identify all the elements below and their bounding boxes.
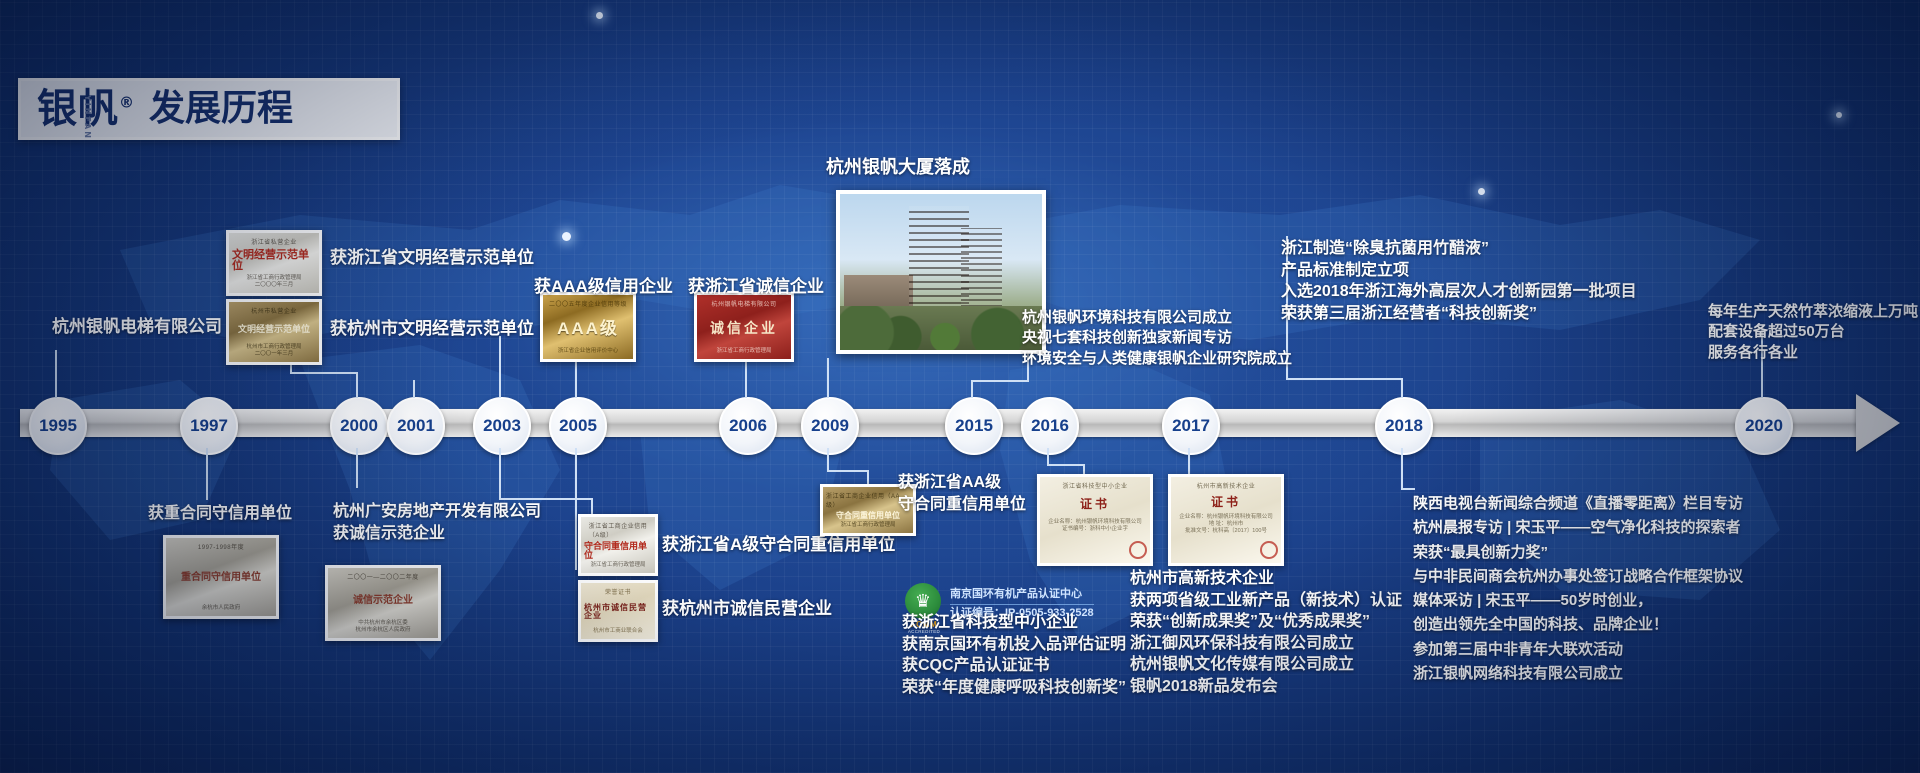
- red-seal-icon: [1260, 541, 1278, 559]
- certificate-zhejiang-integrity: 杭州银帆电梯有限公司 诚信企业 浙江省工商行政管理局: [694, 292, 794, 362]
- certificate-main-text: 重合同守信用单位: [181, 573, 261, 583]
- registered-mark-icon: ®: [119, 94, 135, 112]
- event-label-2005-top: 获AAA级信用企业: [534, 276, 673, 299]
- connector-line: [591, 498, 593, 514]
- certificate-main-text: 证书: [1080, 498, 1110, 510]
- year-label: 2001: [397, 416, 435, 436]
- timeline-year-2009[interactable]: 2009: [801, 397, 859, 455]
- connector-line: [356, 448, 358, 488]
- connector-line: [1401, 488, 1415, 490]
- timeline-year-2016[interactable]: 2016: [1021, 397, 1079, 455]
- timeline-year-2005[interactable]: 2005: [549, 397, 607, 455]
- certificate-honest-private-enterprise: 荣誉证书 杭州市诚信民营企业 杭州市工商业联合会: [578, 580, 658, 642]
- year-label: 1997: [190, 416, 228, 436]
- decor-dot: [562, 232, 571, 241]
- connector-line: [356, 372, 358, 398]
- page-subtitle: 发展历程: [149, 91, 293, 127]
- event-label-2009-bottom: 获浙江省AA级 守合同重信用单位: [898, 472, 1026, 515]
- timeline-year-2001[interactable]: 2001: [387, 397, 445, 455]
- certificate-contract-credit-1997: 1997-1998年度 重合同守信用单位 余杭市人民政府: [163, 535, 279, 619]
- connector-line: [1047, 464, 1083, 466]
- certificate-aaa-credit: 二〇〇五年度企业信用等级 AAA级 浙江省企业信用评价中心: [540, 292, 636, 362]
- certificate-top-text: 二〇〇五年度企业信用等级: [549, 299, 627, 308]
- year-label: 1995: [39, 416, 77, 436]
- certificate-hangzhou-civilized: 杭州市私营企业 文明经营示范单位 杭州市工商行政管理局 二〇〇一年三月: [226, 299, 322, 365]
- certificate-main-text: 证书: [1211, 496, 1241, 508]
- certificate-footer-text: 浙江省工商行政管理局 二〇〇〇年三月: [246, 275, 301, 289]
- certificate-footer-text: 企业名称：杭州银帆环境科技有限公司 地 址：杭州市 批准文号：杭科高〔2017〕…: [1179, 514, 1273, 535]
- certificate-main-text: 文明经营示范单位: [232, 250, 316, 272]
- certificate-main-text: 诚信示范企业: [353, 596, 413, 606]
- certificate-zhejiang-civilized: 浙江省私营企业 文明经营示范单位 浙江省工商行政管理局 二〇〇〇年三月: [226, 230, 322, 296]
- event-label-2000-top: 获浙江省文明经营示范单位: [330, 247, 534, 270]
- certificate-footer-text: 浙江省工商行政管理局: [590, 562, 645, 569]
- connector-line: [1286, 378, 1402, 380]
- connector-line: [867, 470, 869, 484]
- year-label: 2020: [1745, 416, 1783, 436]
- event-label-2015: 杭州银帆环境科技有限公司成立 央视七套科技创新独家新闻专访 环境安全与人类健康银…: [1022, 308, 1292, 369]
- connector-line: [499, 448, 501, 498]
- certificate-sme-tech: 浙江省科技型中小企业 证书 企业名称：杭州银帆环境科技有限公司 证书编号：浙科中…: [1037, 474, 1153, 566]
- connector-line: [413, 380, 415, 398]
- certificate-footer-text: 浙江省企业信用评价中心: [558, 348, 619, 355]
- timeline-year-1997[interactable]: 1997: [180, 397, 238, 455]
- certificate-main-text: 诚信企业: [710, 321, 778, 335]
- decor-dot: [1478, 188, 1485, 195]
- certificate-footer-text: 浙江省工商行政管理局: [716, 348, 771, 355]
- timeline-year-2015[interactable]: 2015: [945, 397, 1003, 455]
- certificate-top-text: 荣誉证书: [605, 587, 631, 596]
- certificate-main-text: 守合同重信用单位: [584, 542, 652, 560]
- year-label: 2003: [483, 416, 521, 436]
- timeline-year-1995[interactable]: 1995: [29, 397, 87, 455]
- timeline-year-2017[interactable]: 2017: [1162, 397, 1220, 455]
- certificate-main-text: 文明经营示范单位: [238, 325, 310, 334]
- building-photo: [836, 190, 1046, 354]
- certificate-footer-text: 中共杭州市余杭区委 杭州市余杭区人民政府: [355, 620, 410, 634]
- certificate-top-text: 浙江省科技型中小企业: [1062, 481, 1127, 490]
- event-label-2017: 杭州市高新技术企业 获两项省级工业新产品（新技术）认证 荣获“创新成果奖”及“优…: [1130, 568, 1402, 698]
- connector-line: [55, 350, 57, 398]
- certificate-footer-text: 浙江省工商行政管理局: [840, 522, 895, 529]
- certificate-footer-text: 杭州市工商行政管理局 二〇〇一年三月: [246, 344, 301, 358]
- certificate-a-level-contract: 浙江省工商企业信用 （A级） 守合同重信用单位 浙江省工商行政管理局: [578, 514, 658, 576]
- certificate-top-text: 二〇〇一—二〇〇二年度: [347, 572, 419, 581]
- event-label-2006: 获浙江省诚信企业: [688, 276, 824, 299]
- certificate-top-text: 杭州市高新技术企业: [1197, 481, 1256, 490]
- connector-line: [971, 380, 1027, 382]
- year-label: 2016: [1031, 416, 1069, 436]
- connector-line: [575, 448, 577, 570]
- connector-line: [827, 448, 829, 470]
- connector-line: [1401, 378, 1403, 398]
- year-label: 2005: [559, 416, 597, 436]
- year-label: 2017: [1172, 416, 1210, 436]
- certificate-top-text: 杭州银帆电梯有限公司: [711, 299, 776, 308]
- brand-name: 银帆: [37, 86, 119, 132]
- event-label-1997: 获重合同守信用单位: [148, 503, 292, 525]
- connector-line: [499, 498, 591, 500]
- connector-line: [827, 470, 867, 472]
- timeline-axis: [20, 409, 1866, 437]
- year-label: 2009: [811, 416, 849, 436]
- certificate-main-text: 杭州市诚信民营企业: [584, 604, 652, 620]
- timeline-infographic: 银帆® YINFAN 发展历程 1995 1997 2000 2001 2003…: [0, 0, 1920, 773]
- red-seal-icon: [1129, 541, 1147, 559]
- event-label-2016: 获浙江省科技型中小企业 获南京国环有机投入品评估证明 获CQC产品认证证书 荣获…: [902, 612, 1126, 698]
- event-label-2020: 每年生产天然竹萃浓缩液上万吨 配套设备超过50万台 服务各行各业: [1708, 302, 1918, 363]
- connector-line: [971, 380, 973, 398]
- decor-dot: [1836, 112, 1842, 118]
- timeline-year-2000[interactable]: 2000: [330, 397, 388, 455]
- brand-logo: 银帆® YINFAN: [37, 89, 135, 129]
- certificate-footer-text: 企业名称：杭州银帆环境科技有限公司 证书编号：浙科中小企业字: [1048, 519, 1142, 533]
- year-label: 2018: [1385, 416, 1423, 436]
- timeline-year-2003[interactable]: 2003: [473, 397, 531, 455]
- certificate-top-text: 杭州市私营企业: [251, 306, 297, 315]
- certificate-main-text: 守合同重信用单位: [836, 512, 900, 520]
- timeline-year-2018[interactable]: 2018: [1375, 397, 1433, 455]
- certificate-high-tech-enterprise: 杭州市高新技术企业 证书 企业名称：杭州银帆环境科技有限公司 地 址：杭州市 批…: [1168, 474, 1284, 566]
- certificate-top-text: 浙江省工商企业信用 （A级）: [589, 521, 648, 539]
- event-label-2003: 获浙江省A级守合同重信用单位: [662, 534, 895, 557]
- timeline-year-2020[interactable]: 2020: [1735, 397, 1793, 455]
- timeline-arrow-icon: [1856, 394, 1900, 452]
- event-label-2001-top: 获杭州市文明经营示范单位: [330, 318, 534, 341]
- certificate-main-text: AAA级: [557, 320, 619, 337]
- certificate-footer-text: 杭州市工商业联合会: [593, 628, 643, 635]
- year-label: 2000: [340, 416, 378, 436]
- connector-line: [499, 336, 501, 398]
- event-label-2018-bottom: 陕西电视台新闻综合频道《直播零距离》栏目专访 杭州晨报专访 | 宋玉平——空气净…: [1413, 492, 1743, 686]
- connector-line: [206, 448, 208, 500]
- page-title: 银帆® YINFAN 发展历程: [18, 78, 400, 140]
- connector-line: [290, 372, 358, 374]
- organic-center-name: 南京国环有机产品认证中心: [950, 586, 1094, 605]
- brand-pinyin: YINFAN: [83, 95, 91, 141]
- connector-line: [827, 358, 829, 398]
- certificate-top-text: 浙江省私营企业: [251, 237, 297, 246]
- event-label-2009-top: 杭州银帆大厦落成: [826, 155, 970, 179]
- timeline-year-2006[interactable]: 2006: [719, 397, 777, 455]
- certificate-top-text: 1997-1998年度: [198, 542, 244, 551]
- connector-line: [1401, 448, 1403, 488]
- connector-line: [1047, 448, 1049, 464]
- year-label: 2006: [729, 416, 767, 436]
- event-label-2000-bottom: 杭州广安房地产开发有限公司 获诚信示范企业: [333, 501, 541, 544]
- certificate-integrity-model: 二〇〇一—二〇〇二年度 诚信示范企业 中共杭州市余杭区委 杭州市余杭区人民政府: [325, 565, 441, 641]
- event-label-2005-bottom: 获杭州市诚信民营企业: [662, 598, 832, 621]
- decor-dot: [596, 12, 603, 19]
- year-label: 2015: [955, 416, 993, 436]
- certificate-footer-text: 余杭市人民政府: [202, 605, 241, 612]
- event-label-1995: 杭州银帆电梯有限公司: [52, 316, 222, 339]
- event-label-2018-top: 浙江制造“除臭抗菌用竹醋液” 产品标准制定立项 入选2018年浙江海外高层次人才…: [1281, 238, 1637, 324]
